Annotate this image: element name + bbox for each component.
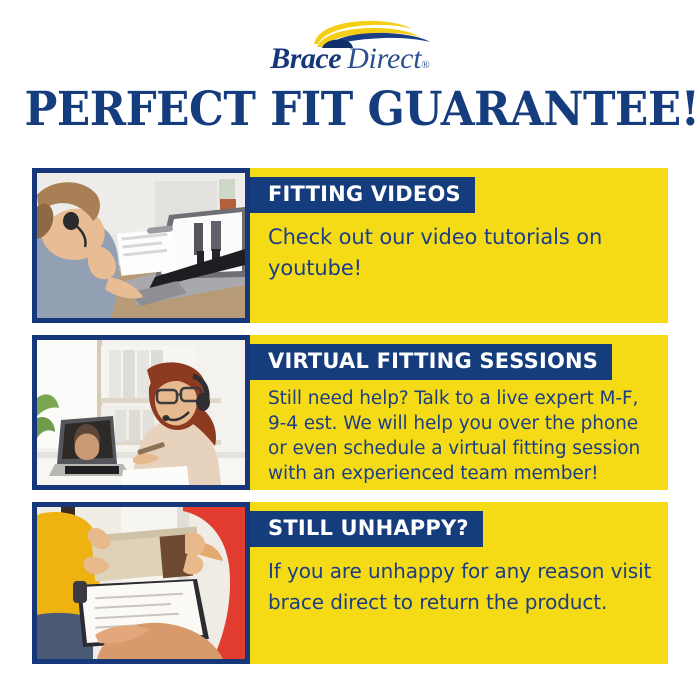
section-body-fitting-videos: Check out our video tutorials on youtube… bbox=[250, 213, 668, 284]
brand-logo: BraceDirect® bbox=[0, 18, 700, 80]
brand-wordmark: BraceDirect® bbox=[270, 44, 430, 74]
panel-still-unhappy: STILL UNHAPPY? If you are unhappy for an… bbox=[250, 502, 668, 664]
section-header-fitting-videos: FITTING VIDEOS bbox=[250, 177, 475, 213]
section-body-virtual-fitting-sessions: Still need help? Talk to a live expert M… bbox=[250, 380, 668, 486]
photo-agent-video-call bbox=[37, 340, 245, 485]
brand-name-direct: Direct bbox=[347, 42, 421, 75]
page-title: PERFECT FIT GUARANTEE! bbox=[25, 84, 676, 136]
section-header-still-unhappy: STILL UNHAPPY? bbox=[250, 511, 483, 547]
photo-frame bbox=[32, 502, 250, 664]
section-fitting-videos: FITTING VIDEOS Check out our video tutor… bbox=[0, 168, 700, 323]
brand-name-brace: Brace bbox=[270, 42, 341, 75]
photo-frame bbox=[32, 335, 250, 490]
section-virtual-fitting-sessions: VIRTUAL FITTING SESSIONS Still need help… bbox=[0, 335, 700, 490]
registered-trademark-icon: ® bbox=[421, 59, 429, 71]
photo-frame bbox=[32, 168, 250, 323]
section-header-virtual-fitting-sessions: VIRTUAL FITTING SESSIONS bbox=[250, 344, 612, 380]
photo-woman-headset-laptop bbox=[37, 173, 245, 318]
panel-fitting-videos: FITTING VIDEOS Check out our video tutor… bbox=[250, 168, 668, 323]
guarantee-sections: FITTING VIDEOS Check out our video tutor… bbox=[0, 168, 700, 664]
panel-virtual-fitting-sessions: VIRTUAL FITTING SESSIONS Still need help… bbox=[250, 335, 668, 490]
section-body-still-unhappy: If you are unhappy for any reason visit … bbox=[250, 547, 668, 618]
photo-package-handoff bbox=[37, 507, 245, 659]
section-still-unhappy: STILL UNHAPPY? If you are unhappy for an… bbox=[0, 502, 700, 664]
